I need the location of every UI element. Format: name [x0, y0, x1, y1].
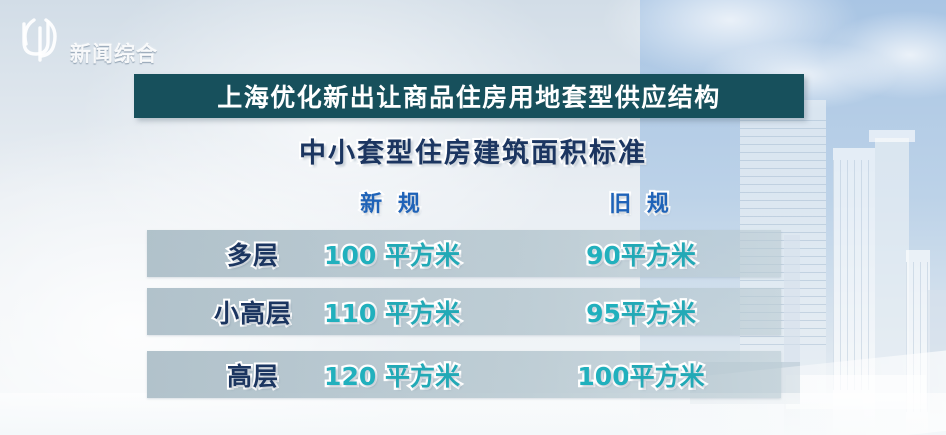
row-type-label: 高层: [227, 357, 279, 393]
row-new-number: 110: [324, 299, 376, 328]
table-header-row: 新 规 旧 规: [147, 186, 787, 216]
row-new-number: 120: [324, 362, 376, 391]
channel-logo: 新闻综合: [12, 12, 222, 68]
broadcast-graphic-stage: 新闻综合 上海优化新出让商品住房用地套型供应结构 中小套型住房建筑面积标准 新 …: [0, 0, 946, 435]
row-new-value: 100 平方米: [324, 236, 460, 272]
building-window-stripes: [833, 160, 875, 390]
row-old-number: 90: [586, 241, 621, 270]
row-new-number: 100: [324, 241, 376, 270]
channel-name: 新闻综合: [70, 38, 158, 68]
row-new-unit: 平方米: [376, 299, 460, 328]
row-old-number: 95: [586, 299, 621, 328]
column-header-new: 新 规: [360, 186, 424, 218]
row-type-label: 小高层: [214, 294, 292, 330]
row-new-value: 120 平方米: [324, 357, 460, 393]
row-old-unit: 平方米: [630, 362, 705, 391]
table-row: 多层 100 平方米 90平方米: [147, 230, 781, 277]
row-old-unit: 平方米: [621, 241, 696, 270]
row-new-unit: 平方米: [376, 362, 460, 391]
table-row: 小高层 110 平方米 95平方米: [147, 288, 781, 335]
table-row: 高层 120 平方米 100平方米: [147, 351, 781, 398]
subtitle-text: 中小套型住房建筑面积标准: [0, 131, 946, 170]
row-type-label: 多层: [227, 236, 279, 272]
headline-banner: 上海优化新出让商品住房用地套型供应结构: [134, 74, 804, 118]
row-new-value: 110 平方米: [324, 294, 460, 330]
headline-banner-text: 上海优化新出让商品住房用地套型供应结构: [217, 78, 721, 114]
row-old-value: 95平方米: [586, 294, 696, 330]
row-old-value: 100平方米: [577, 357, 704, 393]
row-new-unit: 平方米: [376, 241, 460, 270]
row-old-value: 90平方米: [586, 236, 696, 272]
column-header-old: 旧 规: [609, 186, 673, 218]
row-old-number: 100: [577, 362, 629, 391]
row-old-unit: 平方米: [621, 299, 696, 328]
